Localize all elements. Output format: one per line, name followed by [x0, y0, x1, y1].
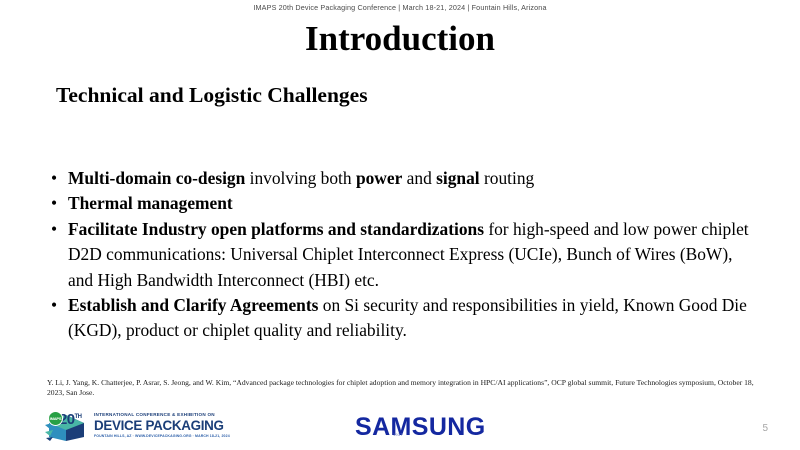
bullet-list: •Multi-domain co-design involving both p… — [47, 166, 757, 344]
imaps-badge-icon: IMAPS — [48, 411, 63, 426]
imaps-logo-line1: INTERNATIONAL CONFERENCE & EXHIBITION ON — [94, 411, 208, 418]
citation-reference: Y. Li, J. Yang, K. Chatterjee, P. Asrar,… — [47, 378, 762, 397]
bullet-item-establish-and-clarify-agreements: •Establish and Clarify Agreements on Si … — [47, 293, 757, 344]
imaps-device-packaging-logo: IMAPS 20TH INTERNATIONAL CONFERENCE & EX… — [44, 411, 208, 441]
bullet-item-multi-domain-co-design: •Multi-domain co-design involving both p… — [47, 166, 757, 191]
samsung-subtext: 1937 — [393, 432, 403, 437]
bullet-marker-icon: • — [47, 166, 68, 191]
bullet-emphasis: Establish and Clarify Agreements — [68, 295, 318, 315]
bullet-text: Facilitate Industry open platforms and s… — [68, 217, 757, 293]
bullet-run: involving both — [245, 168, 356, 188]
bullet-text: Establish and Clarify Agreements on Si s… — [68, 293, 757, 344]
bullet-marker-icon: • — [47, 293, 68, 318]
bullet-item-thermal-management: •Thermal management — [47, 191, 757, 216]
bullet-run: routing — [480, 168, 535, 188]
bullet-text: Multi-domain co-design involving both po… — [68, 166, 757, 191]
bullet-emphasis: Thermal management — [68, 193, 233, 213]
bullet-text: Thermal management — [68, 191, 757, 216]
samsung-logo: SAMSUNG 1937 — [355, 413, 475, 441]
bullet-emphasis: signal — [436, 168, 480, 188]
bullet-run: and — [402, 168, 436, 188]
page-title: Introduction — [0, 19, 800, 59]
bullet-emphasis: Multi-domain co-design — [68, 168, 245, 188]
bullet-marker-icon: • — [47, 217, 68, 242]
bullet-item-facilitate-industry-open-platforms: •Facilitate Industry open platforms and … — [47, 217, 757, 293]
conference-header-line: IMAPS 20th Device Packaging Conference |… — [0, 3, 800, 12]
slide-subtitle: Technical and Logistic Challenges — [56, 82, 368, 108]
imaps-logo-line3: FOUNTAIN HILLS, AZ · WWW.DEVICEPACKAGING… — [94, 433, 208, 439]
page-number: 5 — [762, 423, 768, 435]
imaps-logo-text: INTERNATIONAL CONFERENCE & EXHIBITION ON… — [94, 411, 208, 439]
bullet-emphasis: Facilitate Industry open platforms and s… — [68, 219, 484, 239]
bullet-marker-icon: • — [47, 191, 68, 216]
bullet-emphasis: power — [356, 168, 402, 188]
imaps-logo-line2: DEVICE PACKAGING — [94, 418, 208, 433]
samsung-wordmark: SAMSUNG — [355, 413, 475, 441]
imaps-edition-suffix: TH — [75, 414, 82, 420]
